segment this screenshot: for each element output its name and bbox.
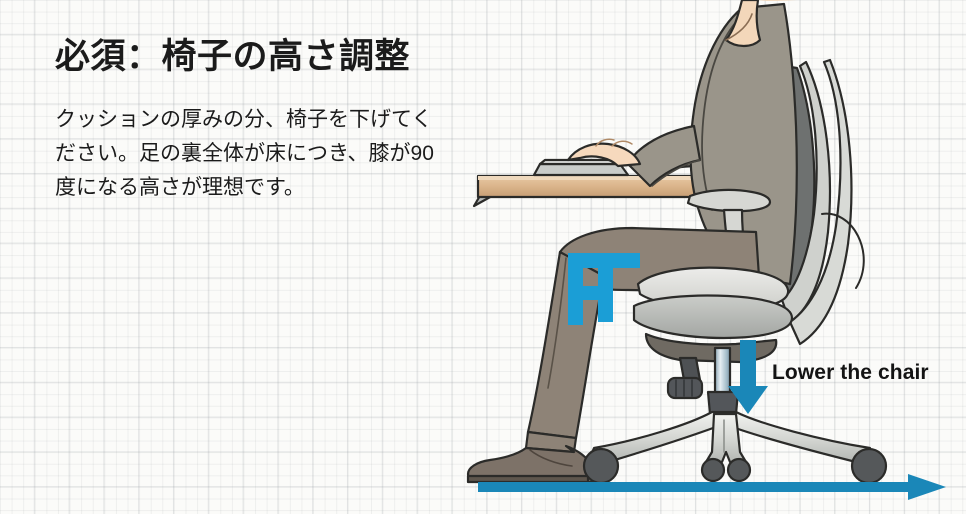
lower-the-chair-label: Lower the chair — [772, 361, 929, 385]
text-column: 必須：椅子の高さ調整 クッションの厚みの分、椅子を下げてください。足の裏全体が床… — [55, 36, 455, 205]
slide-canvas: 必須：椅子の高さ調整 クッションの厚みの分、椅子を下げてください。足の裏全体が床… — [0, 0, 966, 514]
body-paragraph: クッションの厚みの分、椅子を下げてください。足の裏全体が床につき、膝が90度にな… — [55, 103, 447, 205]
page-title: 必須：椅子の高さ調整 — [55, 36, 455, 77]
